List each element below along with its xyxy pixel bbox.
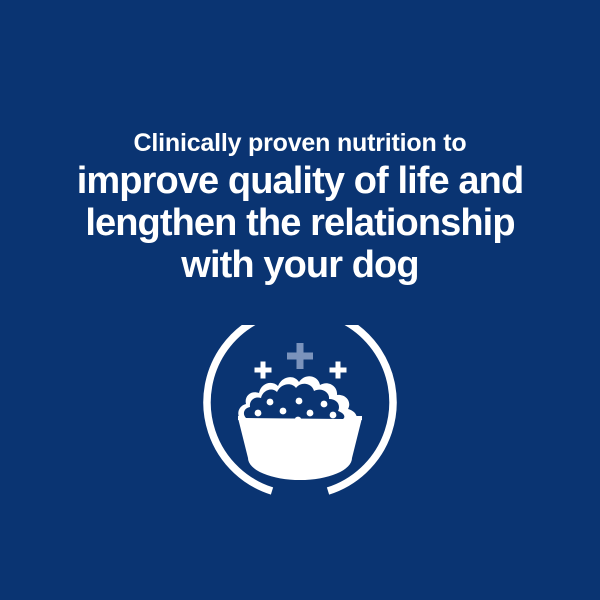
headline-eyebrow: Clinically proven nutrition to [0,126,600,160]
kibble-dot [296,398,303,405]
headline-line-1: improve quality of life and [0,160,600,202]
kibble-dot [255,410,262,417]
kibble-dot [280,408,287,415]
headline-line-2: lengthen the relationship [0,202,600,244]
small-cross-left-icon [255,362,272,379]
kibble-dot [267,419,274,426]
promo-card: Clinically proven nutrition to improve q… [0,0,600,600]
kibble-dot [307,410,314,417]
small-cross-right-icon [330,362,347,379]
headline-line-3: with your dog [0,244,600,286]
center-cross-icon [287,343,313,369]
kibble-dot [267,399,274,406]
headline-block: Clinically proven nutrition to improve q… [0,126,600,286]
kibble-dot [330,412,337,419]
dog-food-bowl-with-sparkles-icon [200,325,400,500]
bowl-body-icon [238,418,362,480]
kibble-dot [321,401,328,408]
kibble-dot [295,417,302,424]
